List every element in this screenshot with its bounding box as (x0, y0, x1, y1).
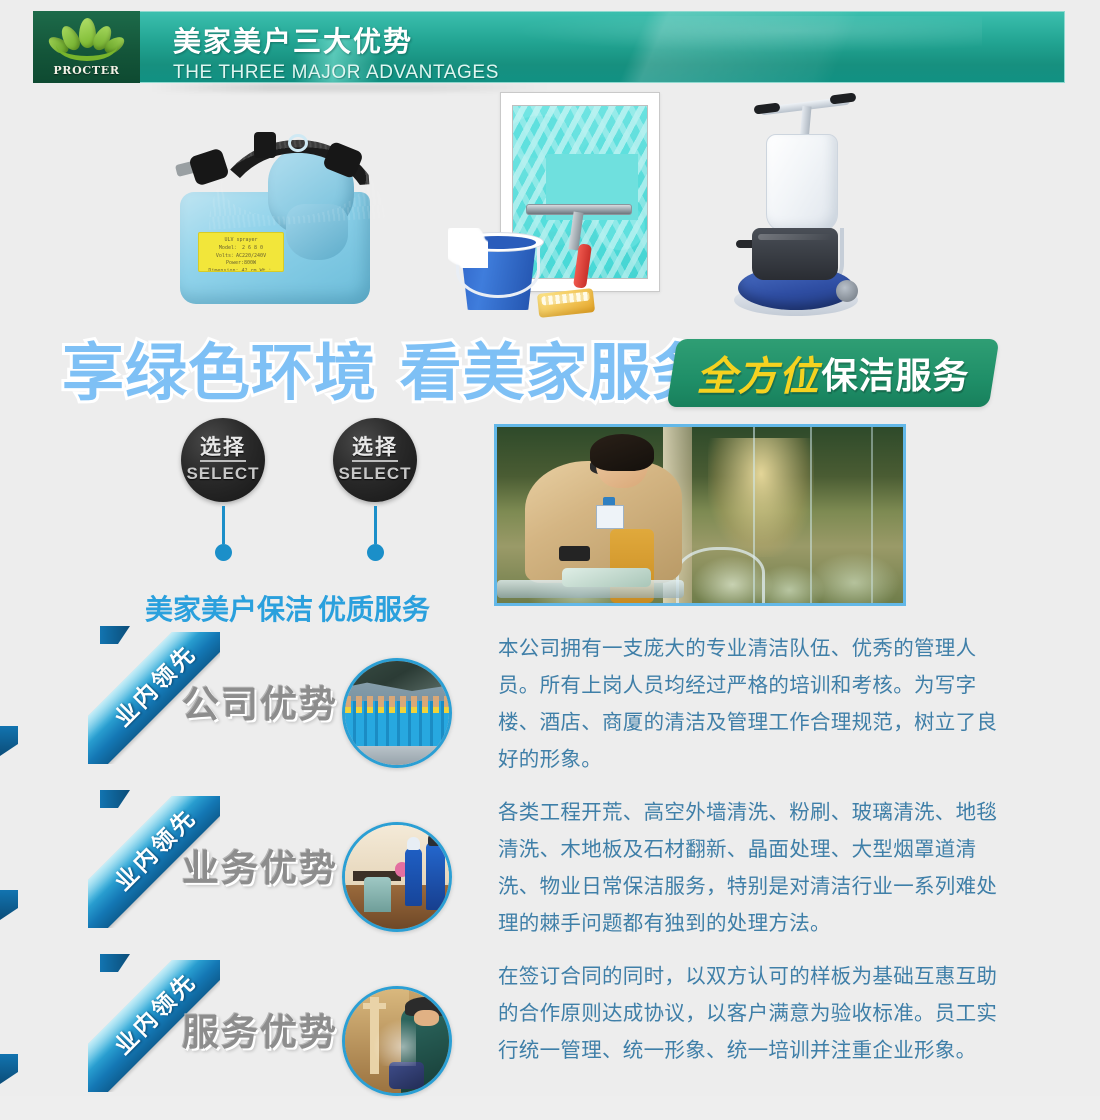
product-image-strip: ULV sprayer Model： 2 6 8 0 Volts：AC220/2… (0, 86, 1100, 334)
advantage-title-1: 公司优势 (182, 674, 342, 728)
spray-disinfection-photo (342, 986, 452, 1096)
advantage-row-service: 业内领先 服务优势 在签订合同的同时，以双方认可的样板为基础互惠互助的合作原则达… (0, 954, 1100, 1120)
select-badge-1-en: SELECT (186, 464, 259, 484)
select-circle-icon: 选择 SELECT (333, 418, 417, 502)
sprayer-label-line3: Volts：AC220/240V Power:800W (202, 253, 280, 269)
sprayer-spec-label: ULV sprayer Model： 2 6 8 0 Volts：AC220/2… (198, 232, 284, 272)
ribbon-tail-left-3 (0, 1054, 18, 1084)
select-badge-2-en: SELECT (338, 464, 411, 484)
ulv-sprayer-image: ULV sprayer Model： 2 6 8 0 Volts：AC220/2… (168, 104, 408, 324)
select-stem-1 (222, 506, 225, 544)
select-badge-2[interactable]: 选择 SELECT (300, 418, 450, 561)
team-group-photo (342, 658, 452, 768)
sponge-image (537, 288, 595, 318)
advantage-text-2: 各类工程开荒、高空外墙清洗、粉刷、玻璃清洗、地毯清洗、木地板及石材翻新、晶面处理… (498, 794, 1014, 942)
advantage-row-company: 业内领先 公司优势 本公司拥有一支庞大的专业清洁队伍、优秀的管理人员。所有上岗人… (0, 626, 1100, 792)
advantage-text-1: 本公司拥有一支庞大的专业清洁队伍、优秀的管理人员。所有上岗人员均经过严格的培训和… (498, 630, 1014, 778)
sprayer-label-line4: Dimension: 42 cm Wt.： 3.7Kg (202, 268, 280, 272)
header-title-cn: 美家美户三大优势 (173, 20, 499, 60)
ribbon-tail-left-1 (0, 726, 18, 756)
select-badge-1-cn: 选择 (200, 436, 246, 461)
header-sheen (508, 16, 982, 52)
advantage-paragraph-1: 本公司拥有一支庞大的专业清洁队伍、优秀的管理人员。所有上岗人员均经过严格的培训和… (498, 630, 1014, 778)
main-headline: 享绿色环境 看美家服务 (62, 336, 662, 410)
select-circle-icon: 选择 SELECT (181, 418, 265, 502)
banner-rest-text: 保洁服务 (821, 347, 969, 399)
advantage-paragraph-3: 在签订合同的同时，以双方认可的样板为基础互惠互助的合作原则达成协议，以客户满意为… (498, 958, 1014, 1069)
advantage-row-business: 业内领先 业务优势 各类工程开荒、高空外墙清洗、粉刷、玻璃清洗、地毯清洗、木地板… (0, 790, 1100, 956)
select-dot-2 (367, 544, 384, 561)
select-stem-2 (374, 506, 377, 544)
leaf-crown-icon (50, 18, 124, 62)
select-dot-1 (215, 544, 232, 561)
page-header: PROCTER 美家美户三大优势 THE THREE MAJOR ADVANTA… (33, 11, 1065, 83)
banner-highlight-text: 全方位 (696, 344, 819, 402)
worker-cleaning-glass-table-photo (494, 424, 906, 606)
logo-text: PROCTER (53, 64, 119, 77)
floor-polisher-image (718, 88, 898, 328)
select-badge-2-cn: 选择 (352, 436, 398, 461)
interior-cleaning-photo (342, 822, 452, 932)
advantage-title-2: 业务优势 (182, 838, 342, 892)
sprayer-label-line1: ULV sprayer (202, 237, 280, 245)
sprayer-label-line2: Model： 2 6 8 0 (202, 245, 280, 253)
advantage-paragraph-2: 各类工程开荒、高空外墙清洗、粉刷、玻璃清洗、地毯清洗、木地板及石材翻新、晶面处理… (498, 794, 1014, 942)
header-titles: 美家美户三大优势 THE THREE MAJOR ADVANTAGES (173, 20, 499, 84)
bucket-image (450, 224, 546, 310)
select-label-2: 优质服务 (318, 588, 430, 628)
advantage-text-3: 在签订合同的同时，以双方认可的样板为基础互惠互助的合作原则达成协议，以客户满意为… (498, 958, 1014, 1069)
header-title-en: THE THREE MAJOR ADVANTAGES (173, 62, 499, 84)
ribbon-tail-left-2 (0, 890, 18, 920)
select-badge-1[interactable]: 选择 SELECT (148, 418, 298, 561)
full-service-banner: 全方位 保洁服务 (667, 339, 1000, 407)
company-logo: PROCTER (33, 11, 140, 83)
advantage-title-3: 服务优势 (182, 1002, 342, 1056)
select-label-1: 美家美户保洁 (145, 588, 313, 628)
